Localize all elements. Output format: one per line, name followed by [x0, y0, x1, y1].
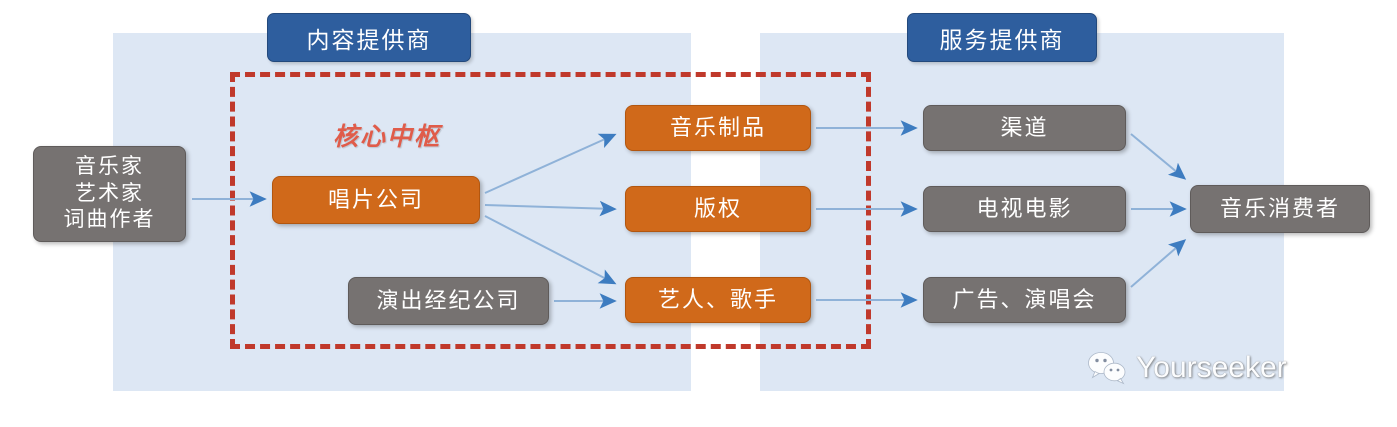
section-header-content-provider: 内容提供商	[267, 13, 471, 62]
wechat-icon	[1087, 351, 1127, 385]
watermark-text: Yourseeker	[1136, 351, 1287, 385]
node-creators-line-1: 音乐家	[75, 154, 144, 181]
node-music-consumers[interactable]: 音乐消费者	[1190, 185, 1370, 233]
node-tv-film[interactable]: 电视电影	[923, 186, 1126, 232]
node-music-products[interactable]: 音乐制品	[625, 105, 811, 151]
section-header-service-provider: 服务提供商	[907, 13, 1097, 62]
node-creators-line-3: 词曲作者	[64, 207, 156, 234]
node-creators[interactable]: 音乐家 艺术家 词曲作者	[33, 146, 186, 242]
node-record-company[interactable]: 唱片公司	[272, 176, 480, 224]
node-creators-line-2: 艺术家	[75, 181, 144, 208]
node-channel[interactable]: 渠道	[923, 105, 1126, 151]
core-hub-label: 核心中枢	[333, 117, 441, 153]
node-copyright[interactable]: 版权	[625, 186, 811, 232]
node-artists-singers[interactable]: 艺人、歌手	[625, 277, 811, 323]
watermark: Yourseeker	[1087, 351, 1287, 385]
node-performance-agency[interactable]: 演出经纪公司	[348, 277, 549, 325]
diagram-canvas: 核心中枢	[0, 0, 1397, 427]
node-ads-concerts[interactable]: 广告、演唱会	[923, 277, 1126, 323]
